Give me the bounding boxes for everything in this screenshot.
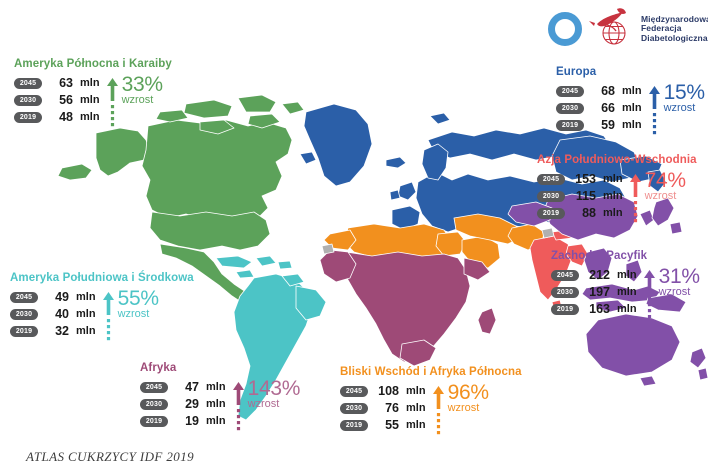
source-caption: ATLAS CUKRZYCY IDF 2019 [26,449,194,465]
region-block-europe: Europa 2045 68 mln 2030 66 mln 2019 59 m… [556,66,705,137]
year-badge: 2045 [340,386,368,397]
region-block-western-pacific: Zachodni Pacyfik 2045 212 mln 2030 197 m… [551,250,700,321]
data-row: 2019 55 mln [340,417,426,433]
unit: mln [617,269,637,281]
region-block-north-america: Ameryka Północna i Karaiby 2045 63 mln 2… [14,58,172,129]
idf-logo: Międzynarodowa Federacja Diabetologiczna [548,5,703,53]
growth-percent: 74% [645,171,686,191]
data-row: 2045 68 mln [556,83,642,99]
value: 212 [584,268,610,282]
growth-arrow-up-icon [648,85,661,137]
growth-percent: 15% [664,83,705,103]
growth-indicator: 74% wzrost [629,171,686,225]
data-row: 2030 76 mln [340,400,426,416]
value: 197 [584,285,610,299]
data-row: 2045 63 mln [14,75,100,91]
value: 49 [43,290,69,304]
value: 59 [589,118,615,132]
value: 47 [173,380,199,394]
unit: mln [80,94,100,106]
data-row: 2045 47 mln [140,379,226,395]
value: 63 [47,76,73,90]
region-title: Azja Południowo-Wschodnia [537,154,697,167]
data-row: 2045 153 mln [537,171,623,187]
unit: mln [80,77,100,89]
region-block-mena: Bliski Wschód i Afryka Północna 2045 108… [340,366,522,437]
year-badge: 2030 [340,403,368,414]
unit: mln [406,385,426,397]
data-row: 2030 40 mln [10,306,96,322]
infographic-canvas: Międzynarodowa Federacja Diabetologiczna… [0,0,708,476]
unit: mln [206,381,226,393]
growth-percent: 96% [448,383,489,403]
growth-percent: 143% [248,379,301,399]
data-row: 2045 212 mln [551,267,637,283]
unit: mln [603,173,623,185]
data-row: 2019 48 mln [14,109,100,125]
year-badge: 2045 [537,174,565,185]
region-rows: 2045 47 mln 2030 29 mln 2019 19 mln [140,379,226,430]
data-row: 2019 32 mln [10,323,96,339]
map-region-africa [320,250,496,366]
growth-indicator: 143% wzrost [232,379,301,433]
value: 19 [173,414,199,428]
unit: mln [206,415,226,427]
year-badge: 2030 [537,191,565,202]
growth-indicator: 33% wzrost [106,75,163,129]
region-title: Afryka [140,362,300,375]
growth-arrow-up-icon [629,173,642,225]
unit: mln [622,102,642,114]
growth-arrow-up-icon [232,381,245,433]
region-title: Zachodni Pacyfik [551,250,700,263]
unit: mln [603,207,623,219]
region-block-africa: Afryka 2045 47 mln 2030 29 mln 2019 19 m… [140,362,300,433]
year-badge: 2019 [140,416,168,427]
value: 66 [589,101,615,115]
region-rows: 2045 49 mln 2030 40 mln 2019 32 mln [10,289,96,340]
unit: mln [406,402,426,414]
growth-arrow-up-icon [432,385,445,437]
value: 32 [43,324,69,338]
region-rows: 2045 108 mln 2030 76 mln 2019 55 mln [340,383,426,434]
data-row: 2030 56 mln [14,92,100,108]
region-rows: 2045 212 mln 2030 197 mln 2019 163 mln [551,267,637,318]
year-badge: 2030 [10,309,38,320]
value: 76 [373,401,399,415]
value: 40 [43,307,69,321]
region-title: Europa [556,66,705,79]
year-badge: 2019 [551,304,579,315]
region-rows: 2045 153 mln 2030 115 mln 2019 88 mln [537,171,623,222]
unit: mln [206,398,226,410]
value: 153 [570,172,596,186]
unit: mln [603,190,623,202]
unit: mln [80,111,100,123]
growth-indicator: 31% wzrost [643,267,700,321]
year-badge: 2019 [556,120,584,131]
data-row: 2030 66 mln [556,100,642,116]
growth-percent: 31% [659,267,700,287]
data-row: 2019 88 mln [537,205,623,221]
value: 115 [570,189,596,203]
unit: mln [617,286,637,298]
unit: mln [76,308,96,320]
year-badge: 2030 [551,287,579,298]
value: 48 [47,110,73,124]
year-badge: 2045 [140,382,168,393]
unit: mln [622,85,642,97]
growth-indicator: 15% wzrost [648,83,705,137]
hummingbird-globe-icon [587,6,637,53]
data-row: 2030 197 mln [551,284,637,300]
region-rows: 2045 63 mln 2030 56 mln 2019 48 mln [14,75,100,126]
year-badge: 2045 [10,292,38,303]
data-row: 2019 59 mln [556,117,642,133]
logo-text: Międzynarodowa Federacja Diabetologiczna [641,15,708,44]
data-row: 2045 108 mln [340,383,426,399]
region-title: Ameryka Północna i Karaiby [14,58,172,71]
growth-percent: 33% [122,75,163,95]
year-badge: 2019 [537,208,565,219]
year-badge: 2045 [551,270,579,281]
unit: mln [76,325,96,337]
year-badge: 2030 [140,399,168,410]
year-badge: 2019 [14,112,42,123]
idf-blue-circle-icon [548,12,582,46]
value: 163 [584,302,610,316]
growth-arrow-up-icon [102,291,115,343]
value: 56 [47,93,73,107]
year-badge: 2019 [340,420,368,431]
data-row: 2030 115 mln [537,188,623,204]
region-block-south-east-asia: Azja Południowo-Wschodnia 2045 153 mln 2… [537,154,697,225]
unit: mln [617,303,637,315]
region-title: Ameryka Południowa i Środkowa [10,272,194,285]
value: 29 [173,397,199,411]
data-row: 2030 29 mln [140,396,226,412]
unit: mln [406,419,426,431]
year-badge: 2030 [14,95,42,106]
data-row: 2045 49 mln [10,289,96,305]
region-title: Bliski Wschód i Afryka Północna [340,366,522,379]
growth-indicator: 96% wzrost [432,383,489,437]
growth-indicator: 55% wzrost [102,289,159,343]
value: 88 [570,206,596,220]
value: 108 [373,384,399,398]
value: 55 [373,418,399,432]
year-badge: 2030 [556,103,584,114]
data-row: 2019 163 mln [551,301,637,317]
year-badge: 2045 [556,86,584,97]
logo-text-line3: Diabetologiczna [641,34,708,44]
year-badge: 2045 [14,78,42,89]
value: 68 [589,84,615,98]
unit: mln [76,291,96,303]
growth-percent: 55% [118,289,159,309]
year-badge: 2019 [10,326,38,337]
data-row: 2019 19 mln [140,413,226,429]
growth-arrow-up-icon [643,269,656,321]
region-block-south-central-america: Ameryka Południowa i Środkowa 2045 49 ml… [10,272,194,343]
region-rows: 2045 68 mln 2030 66 mln 2019 59 mln [556,83,642,134]
growth-arrow-up-icon [106,77,119,129]
unit: mln [622,119,642,131]
